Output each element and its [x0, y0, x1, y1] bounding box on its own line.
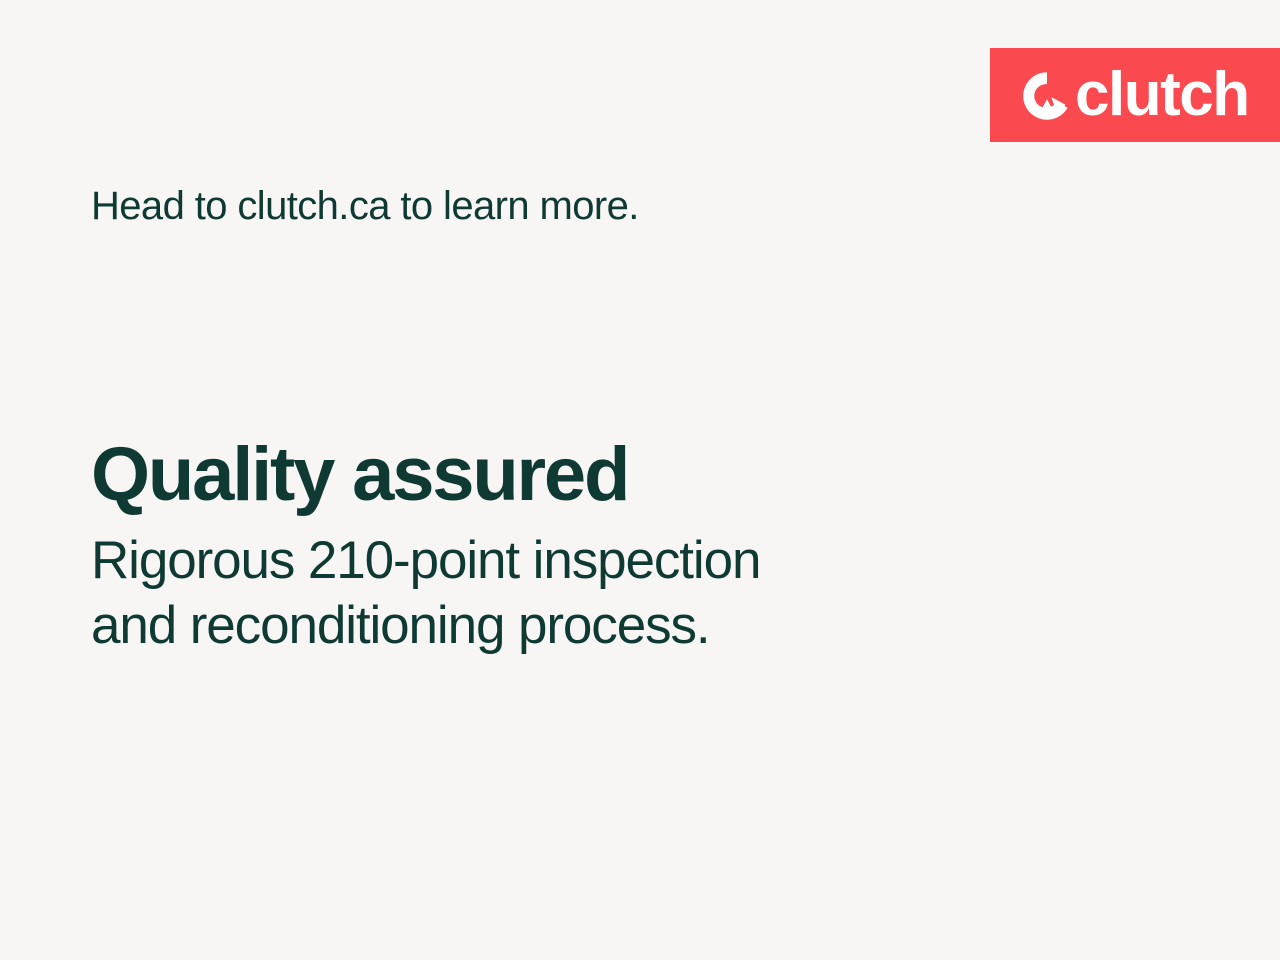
headline-group: Quality assured Rigorous 210-point inspe…	[91, 437, 1071, 658]
subhead-text: Rigorous 210-point inspection and recond…	[91, 529, 1071, 658]
subhead-line-2: and reconditioning process.	[91, 594, 1071, 659]
clutch-logo: clutch	[1020, 64, 1249, 126]
lede-text: Head to clutch.ca to learn more.	[91, 183, 639, 229]
clutch-c-mark-icon	[1020, 69, 1074, 123]
page-title: Quality assured	[91, 437, 1071, 513]
brand-logo-block: clutch	[990, 48, 1280, 142]
brand-wordmark: clutch	[1075, 64, 1249, 126]
subhead-line-1: Rigorous 210-point inspection	[91, 529, 1071, 594]
promo-slide: clutch Head to clutch.ca to learn more. …	[0, 0, 1280, 960]
